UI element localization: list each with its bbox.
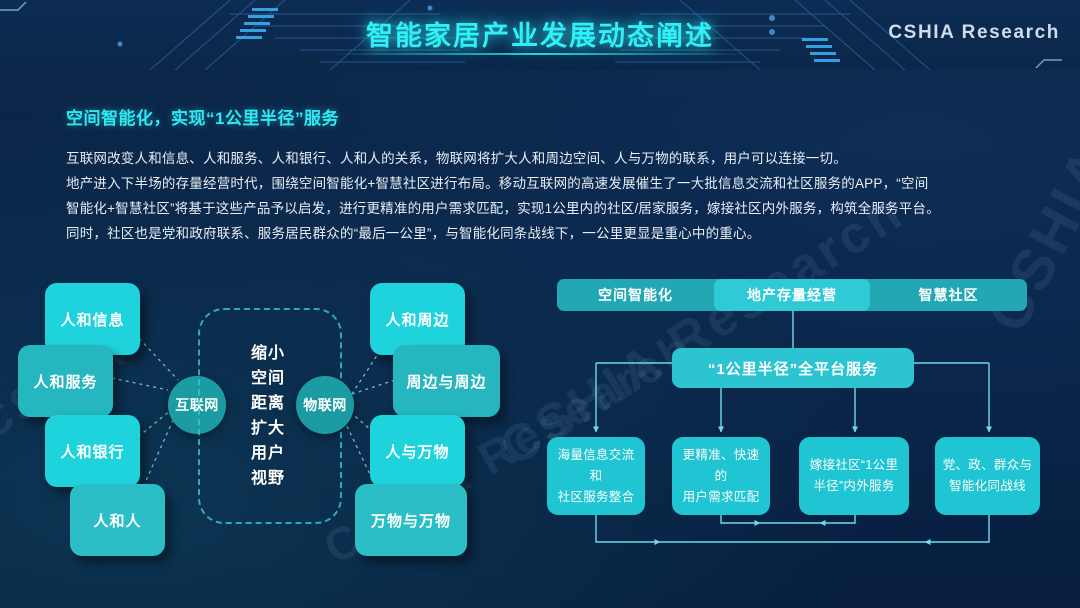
card-label: 万物与万物 (371, 510, 451, 531)
brand-logo: CSHIA Research (888, 22, 1060, 44)
leaf-box-text: 更精准、快速的用户需求匹配 (678, 445, 764, 508)
section-subheading: 空间智能化，实现“1公里半径”服务 (66, 104, 339, 129)
card-label: 人和服务 (33, 371, 97, 392)
leaf-box-text: 嫁接社区“1公里半径”内外服务 (810, 455, 899, 497)
hub-wulianwang[interactable]: 物联网 (296, 376, 354, 434)
hub-label: 物联网 (303, 395, 347, 415)
paragraph-line: 同时，社区也是党和政府联系、服务居民群众的“最后一公里”，与智能化同条战线下，一… (66, 221, 1026, 246)
platform-bar-label: “1公里半径”全平台服务 (708, 358, 878, 379)
segment-dichan-cunliang-jingying[interactable]: 地产存量经营 (714, 279, 870, 311)
paragraph-line: 地产进入下半场的存量经营时代，围绕空间智能化+智慧社区进行布局。移动互联网的高速… (66, 171, 1026, 196)
platform-bar[interactable]: “1公里半径”全平台服务 (672, 348, 914, 388)
leaf-box-4[interactable]: 党、政、群众与智能化同战线 (935, 437, 1040, 515)
segment-label: 智慧社区 (919, 285, 979, 305)
card-ren-he-ren[interactable]: 人和人 (70, 484, 165, 556)
center-text-line: 距离 (241, 391, 295, 416)
slide-root: 智能家居产业发展动态阐述 CSHIA Research CSHIA Resear… (0, 0, 1080, 608)
body-paragraph: 互联网改变人和信息、人和服务、人和银行、人和人的关系，物联网将扩大人和周边空间、… (66, 146, 1026, 246)
segment-zhihui-shequ[interactable]: 智慧社区 (870, 279, 1027, 311)
paragraph-line: 智能化+智慧社区”将基于这些产品予以启发，进行更精准的用户需求匹配，实现1公里内… (66, 196, 1026, 221)
segment-kongjian-zhinenghua[interactable]: 空间智能化 (557, 279, 714, 311)
paragraph-line: 互联网改变人和信息、人和服务、人和银行、人和人的关系，物联网将扩大人和周边空间、… (66, 146, 1026, 171)
card-zhoubian-yu-zhoubian[interactable]: 周边与周边 (393, 345, 500, 417)
center-text-line: 缩小 (241, 341, 295, 366)
center-text-line: 用户 (241, 441, 295, 466)
card-ren-he-fuwu[interactable]: 人和服务 (18, 345, 113, 417)
title-underline (330, 53, 750, 55)
card-ren-yu-wanwu[interactable]: 人与万物 (370, 415, 465, 487)
center-text-line: 视野 (241, 466, 295, 491)
card-label: 人和人 (93, 510, 141, 531)
leaf-box-text: 党、政、群众与智能化同战线 (943, 455, 1033, 497)
card-ren-he-yinhang[interactable]: 人和银行 (45, 415, 140, 487)
leaf-box-text: 海量信息交流和社区服务整合 (553, 445, 639, 508)
card-label: 人和银行 (60, 441, 124, 462)
leaf-box-3[interactable]: 嫁接社区“1公里半径”内外服务 (799, 437, 909, 515)
center-text-line: 扩大 (241, 416, 295, 441)
card-label: 周边与周边 (406, 371, 486, 392)
card-label: 人和周边 (385, 309, 449, 330)
leaf-box-2[interactable]: 更精准、快速的用户需求匹配 (672, 437, 770, 515)
center-vertical-text: 缩小 空间 距离 扩大 用户 视野 (241, 341, 295, 491)
center-text-line: 空间 (241, 366, 295, 391)
leaf-box-1[interactable]: 海量信息交流和社区服务整合 (547, 437, 645, 515)
card-label: 人和信息 (60, 309, 124, 330)
header-band: 智能家居产业发展动态阐述 CSHIA Research (0, 0, 1080, 70)
card-label: 人与万物 (385, 441, 449, 462)
segment-label: 地产存量经营 (747, 285, 837, 305)
card-wanwu-yu-wanwu[interactable]: 万物与万物 (355, 484, 467, 556)
segment-label: 空间智能化 (598, 285, 673, 305)
